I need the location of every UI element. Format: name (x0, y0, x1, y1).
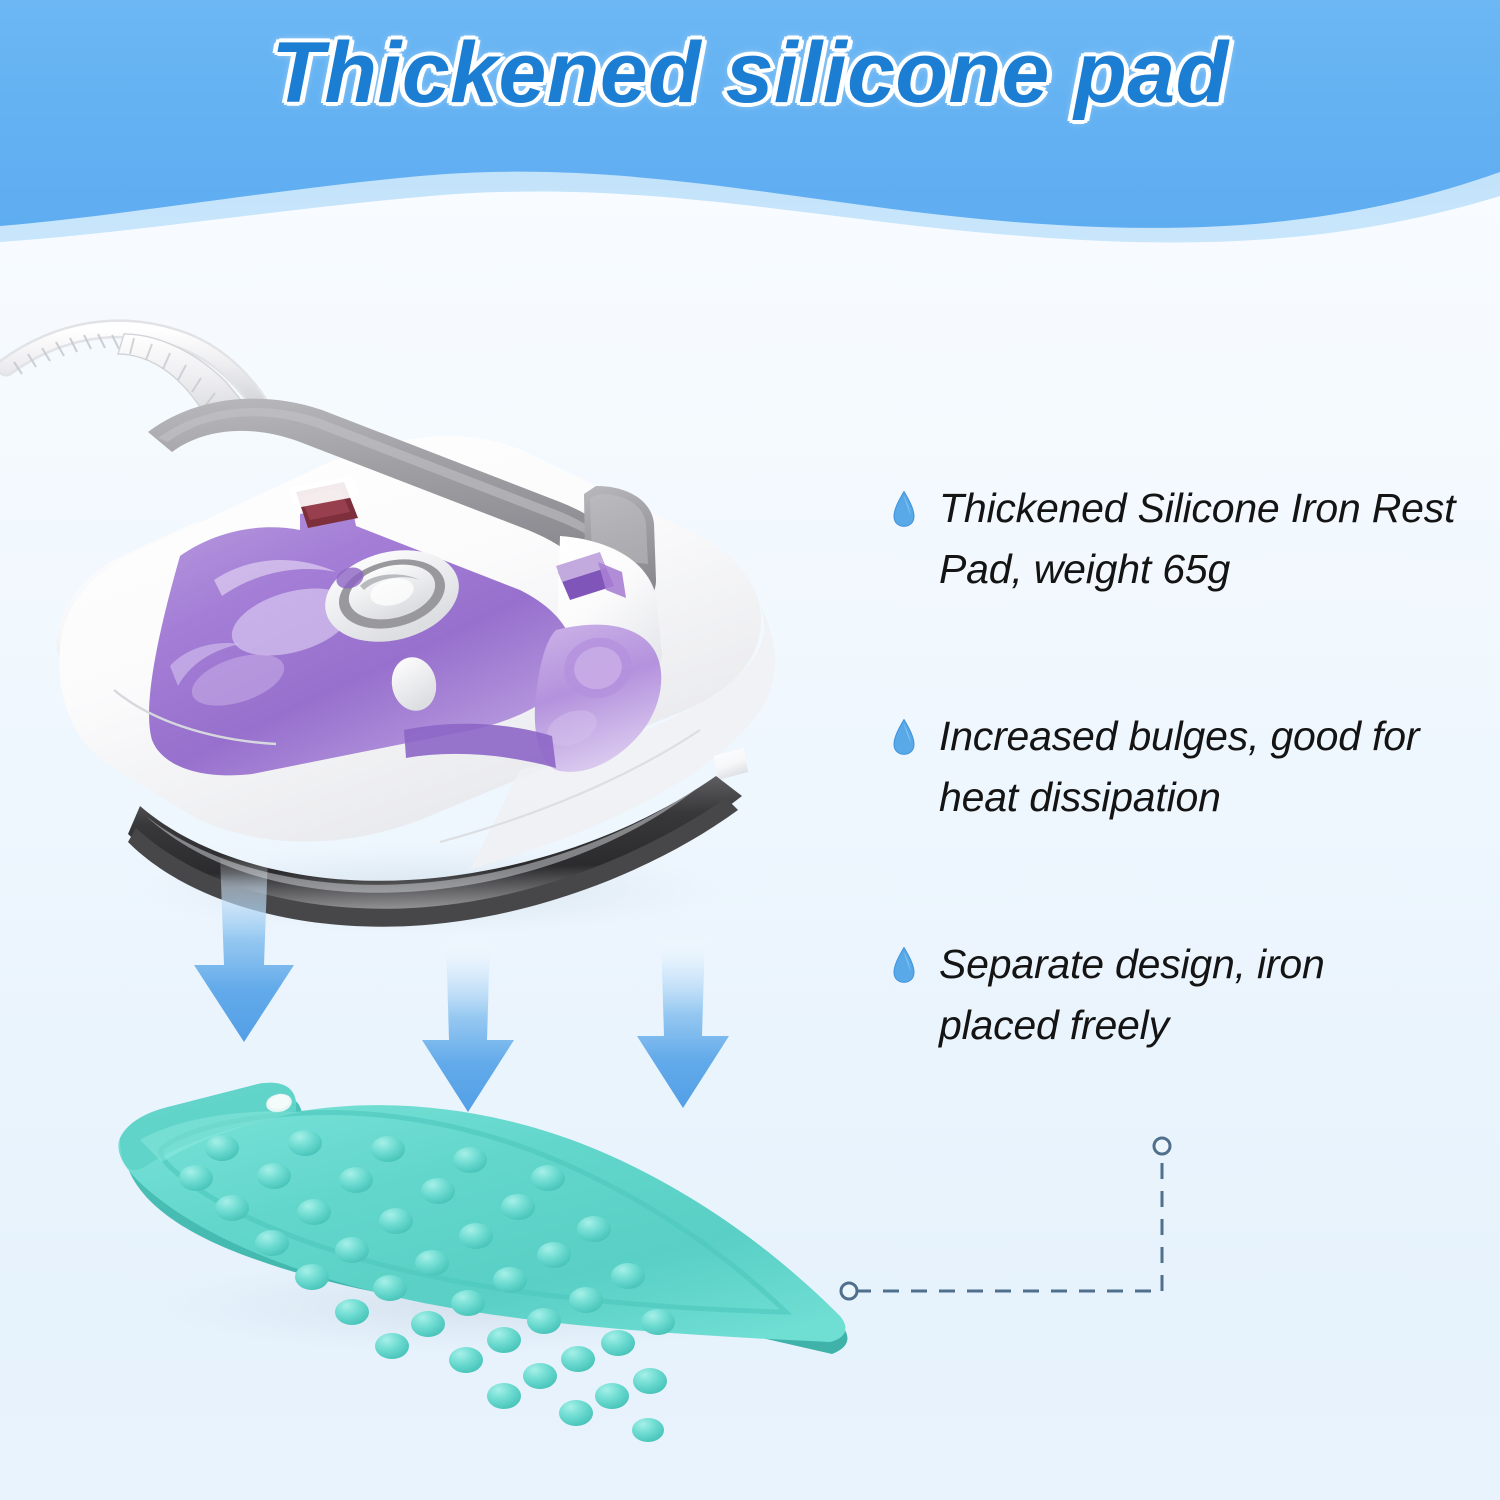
iron-drop-bullet-icon (893, 491, 915, 527)
feature-item-2: Separate design, iron placed freely (893, 934, 1493, 1056)
dimension-callout (841, 1138, 1170, 1299)
header-banner: Thickened silicone pad (0, 0, 1500, 250)
callout-node-end (1154, 1138, 1170, 1154)
callout-node-start (841, 1283, 857, 1299)
downward-arrow-3 (637, 936, 729, 1108)
iron-drop-bullet-icon (893, 947, 915, 983)
feature-text-2: Separate design, iron placed freely (939, 934, 1389, 1056)
product-infographic-page: Thickened silicone pad (0, 0, 1500, 1500)
feature-text-1: Increased bulges, good for heat dissipat… (939, 706, 1479, 828)
iron-drop-bullet-icon (893, 719, 915, 755)
page-title: Thickened silicone pad (0, 18, 1500, 128)
feature-item-0: Thickened Silicone Iron Rest Pad, weight… (893, 478, 1493, 600)
feature-list: Thickened Silicone Iron Rest Pad, weight… (893, 478, 1493, 1056)
silicone-iron-rest-pad (118, 1083, 847, 1442)
feature-item-1: Increased bulges, good for heat dissipat… (893, 706, 1493, 828)
feature-text-0: Thickened Silicone Iron Rest Pad, weight… (939, 478, 1493, 600)
downward-arrow-2 (422, 940, 514, 1112)
